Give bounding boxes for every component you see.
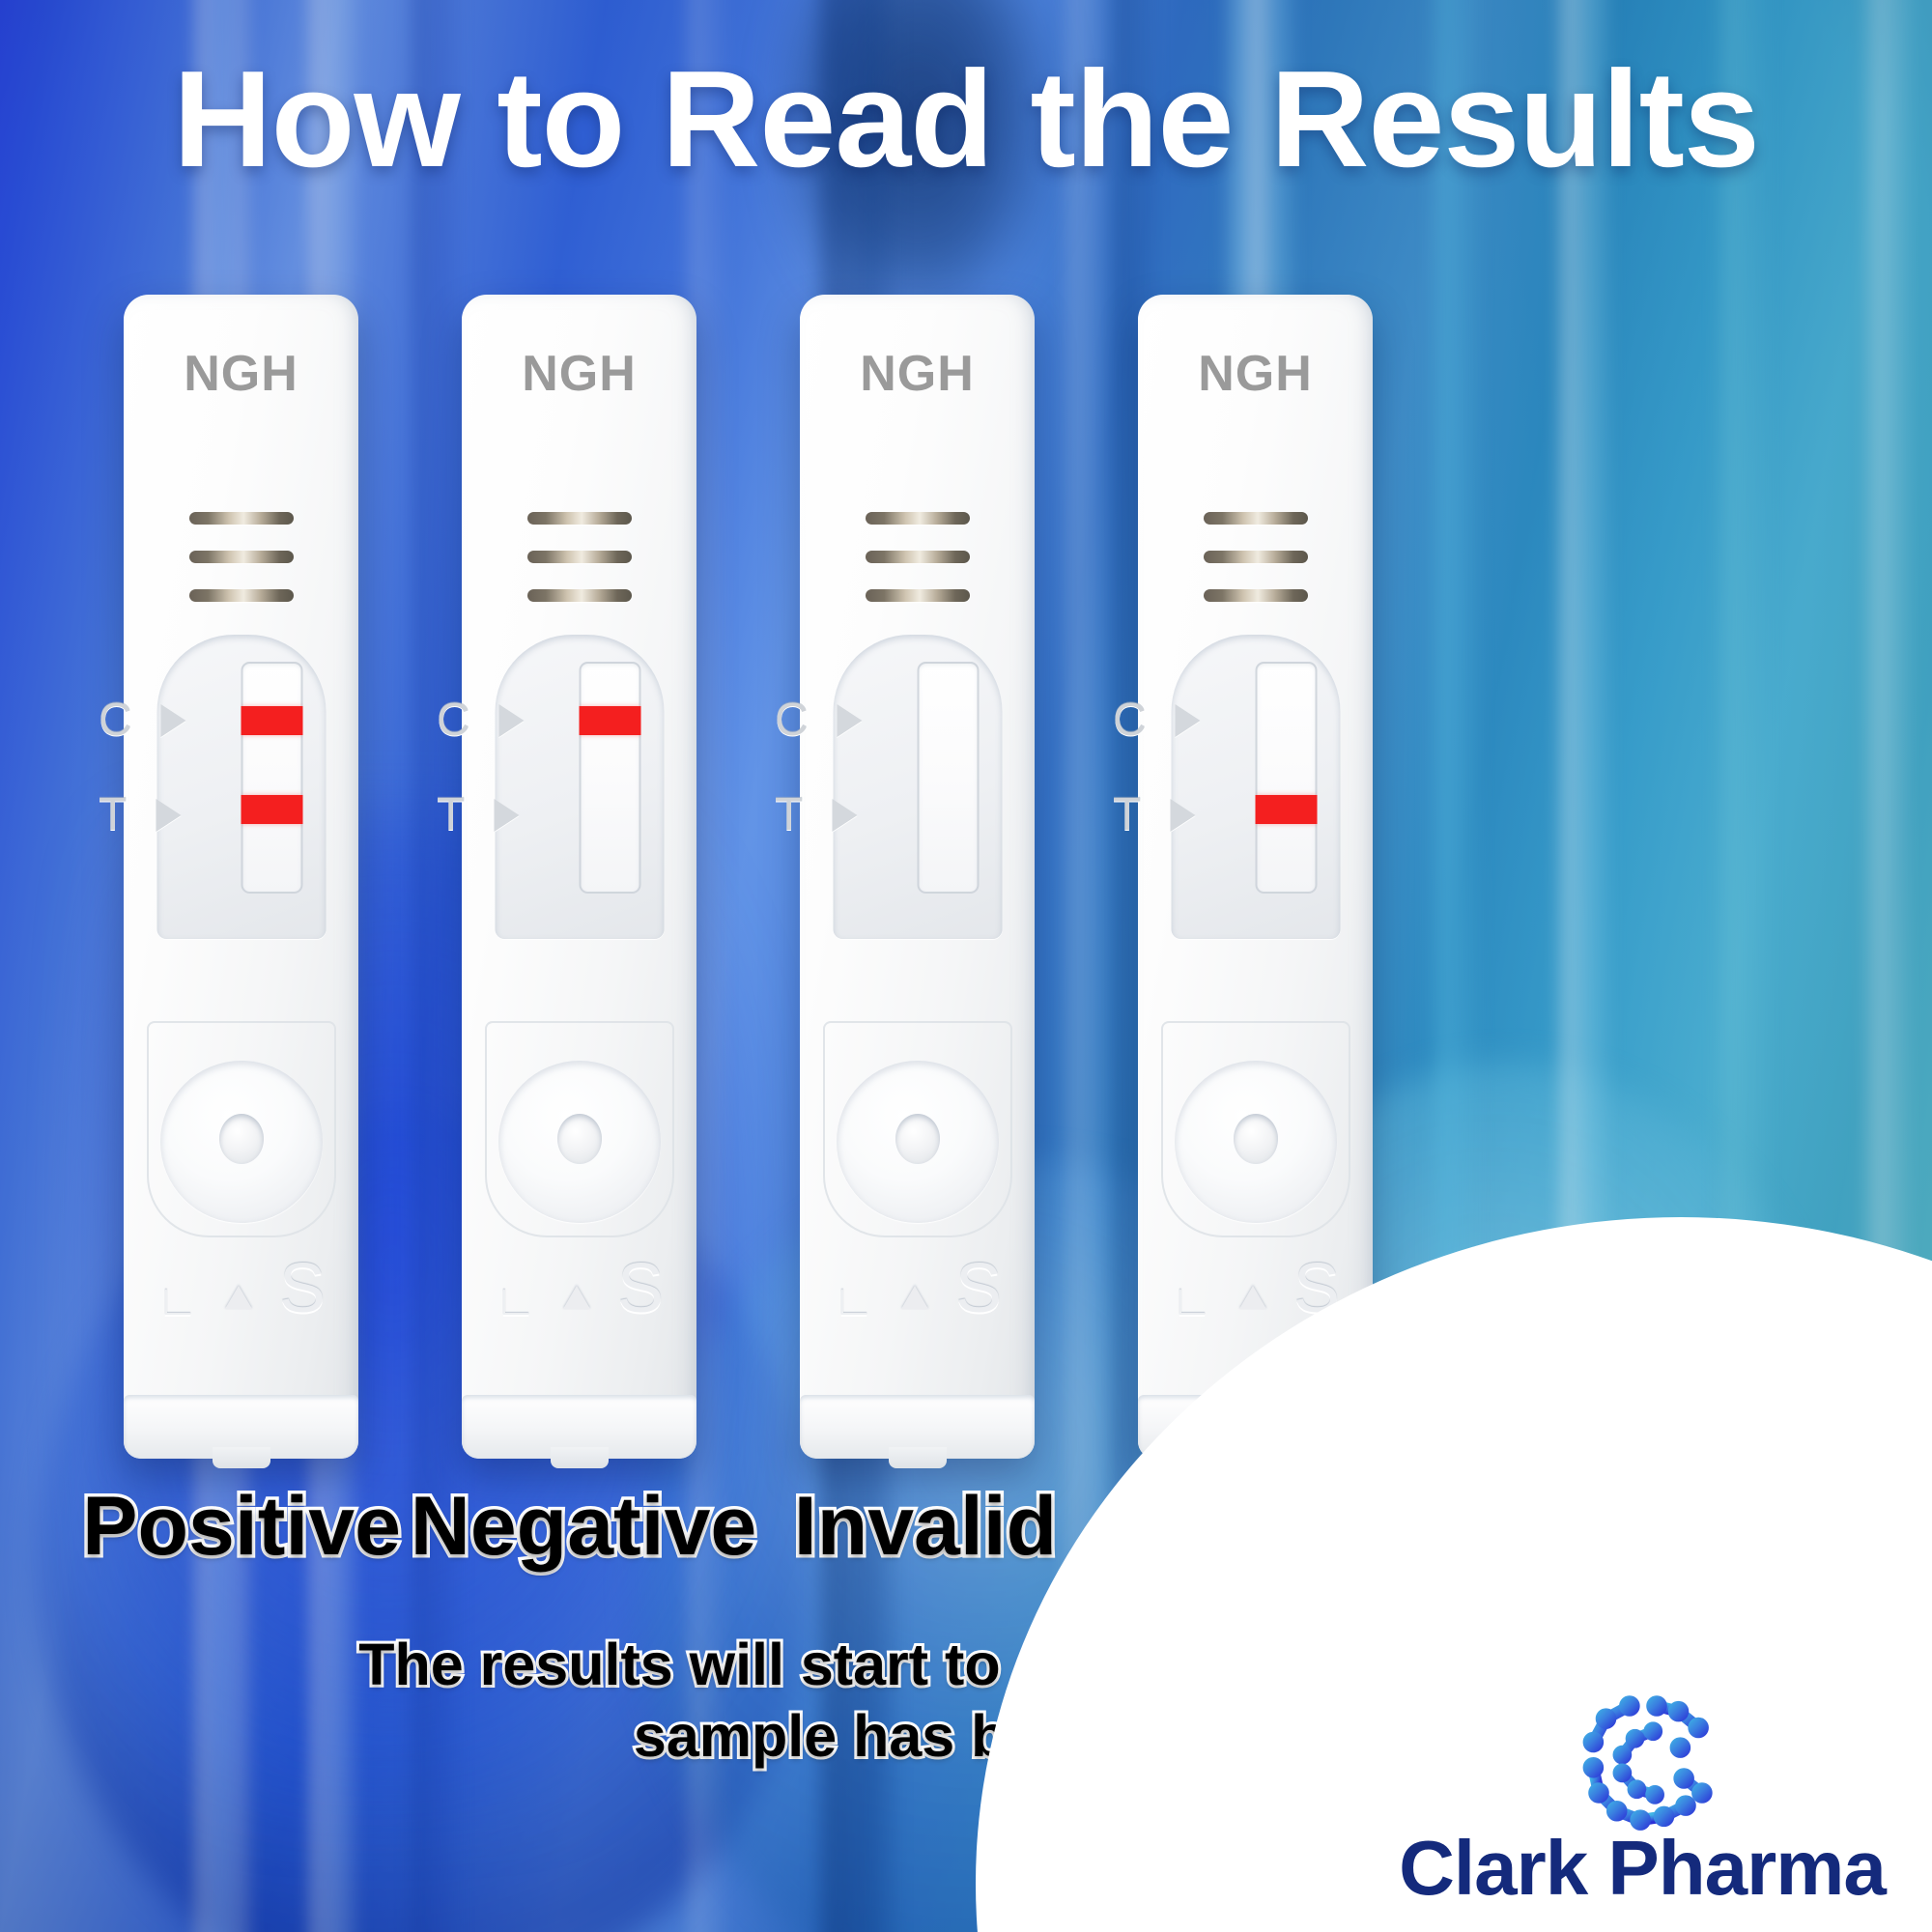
vent-slot: [527, 589, 632, 602]
test-marker: T: [1113, 783, 1258, 847]
up-arrow-icon: [225, 1286, 252, 1309]
sample-well-plate: ∟ S: [823, 1021, 1012, 1237]
cassette-notch: [551, 1447, 609, 1468]
result-window: [579, 662, 640, 894]
control-label: C: [437, 697, 470, 744]
triangle-icon: [1176, 704, 1201, 737]
test-label: T: [437, 792, 465, 838]
result-window-recess: C T: [495, 635, 664, 939]
triangle-icon: [156, 799, 181, 832]
control-marker: C: [775, 689, 920, 753]
sample-well-dish: [498, 1061, 661, 1223]
test-label: T: [1113, 792, 1141, 838]
marker-spacer: [1113, 753, 1258, 783]
control-marker: C: [437, 689, 582, 753]
sample-well-plate: ∟ S: [1161, 1021, 1350, 1237]
vent-slot: [1204, 589, 1308, 602]
ct-markers: C T: [775, 689, 920, 847]
ct-markers: C T: [99, 689, 243, 847]
control-label: C: [775, 697, 809, 744]
vent-slot: [189, 512, 294, 525]
control-marker: C: [99, 689, 243, 753]
device-label: NGH: [462, 345, 696, 403]
marker-spacer: [99, 753, 243, 783]
infographic-canvas: How to Read the Results NGH C T: [0, 0, 1932, 1932]
test-marker: T: [437, 783, 582, 847]
result-caption-invalid-none: Invalid: [752, 1479, 1099, 1575]
brand-name: Clark Pharma: [1372, 1824, 1913, 1913]
result-window-recess: C T: [833, 635, 1002, 939]
sample-well-plate: ∟ S: [147, 1021, 336, 1237]
sample-markings: ∟ S: [485, 1258, 674, 1321]
test-marker: T: [775, 783, 920, 847]
up-arrow-icon: [563, 1286, 590, 1309]
triangle-icon: [1170, 799, 1195, 832]
cassette-positive[interactable]: NGH C T: [124, 295, 358, 1459]
device-label: NGH: [124, 345, 358, 403]
triangle-icon: [494, 799, 519, 832]
up-arrow-icon: [901, 1286, 928, 1309]
control-line: [579, 706, 640, 735]
result-window-recess: C T: [1171, 635, 1340, 939]
control-line: [241, 706, 302, 735]
vent-slot: [866, 512, 970, 525]
triangle-icon: [832, 799, 857, 832]
test-label: T: [775, 792, 803, 838]
result-caption-positive: Positive: [68, 1479, 415, 1575]
result-window-recess: C T: [156, 635, 326, 939]
control-marker: C: [1113, 689, 1258, 753]
brand-logo[interactable]: Clark Pharma: [1372, 1694, 1913, 1917]
vent-slot: [1204, 512, 1308, 525]
vent-slot: [527, 512, 632, 525]
result-caption-negative: Negative: [410, 1479, 757, 1575]
ct-markers: C T: [437, 689, 582, 847]
sample-well-dish: [1175, 1061, 1337, 1223]
molecular-c-logo-icon: [1570, 1690, 1715, 1837]
vent-slot: [189, 589, 294, 602]
up-arrow-icon: [1239, 1286, 1266, 1309]
sample-label: S: [617, 1258, 664, 1321]
bracket-icon: ∟: [833, 1282, 874, 1321]
control-label: C: [1113, 697, 1147, 744]
vent-slot: [189, 551, 294, 563]
result-window: [241, 662, 302, 894]
triangle-icon: [499, 704, 525, 737]
vent-slot: [866, 589, 970, 602]
sample-label: S: [955, 1258, 1002, 1321]
test-line: [241, 795, 302, 824]
vent-slots: [527, 512, 632, 628]
marker-spacer: [437, 753, 582, 783]
sample-well-hole: [895, 1114, 940, 1164]
cassette-notch: [213, 1447, 270, 1468]
sample-well-dish: [837, 1061, 999, 1223]
vent-slot: [1204, 551, 1308, 563]
bracket-icon: ∟: [1171, 1282, 1212, 1321]
device-label: NGH: [800, 345, 1035, 403]
ct-markers: C T: [1113, 689, 1258, 847]
test-marker: T: [99, 783, 243, 847]
result-window: [1255, 662, 1317, 894]
sample-well-plate: ∟ S: [485, 1021, 674, 1237]
cassette-invalid-none[interactable]: NGH C T: [800, 295, 1035, 1459]
sample-label: S: [279, 1258, 326, 1321]
sample-well-hole: [219, 1114, 264, 1164]
cassette-notch: [889, 1447, 947, 1468]
triangle-icon: [838, 704, 863, 737]
vent-slots: [189, 512, 294, 628]
bracket-icon: ∟: [495, 1282, 536, 1321]
cassette-negative[interactable]: NGH C T: [462, 295, 696, 1459]
sample-well-dish: [160, 1061, 323, 1223]
sample-well-hole: [1234, 1114, 1278, 1164]
sample-markings: ∟ S: [147, 1258, 336, 1321]
bracket-icon: ∟: [156, 1282, 198, 1321]
vent-slot: [866, 551, 970, 563]
test-line: [1255, 795, 1317, 824]
vent-slots: [866, 512, 970, 628]
marker-spacer: [775, 753, 920, 783]
test-label: T: [99, 792, 127, 838]
control-label: C: [99, 697, 132, 744]
cassette-invalid-test-only[interactable]: NGH C T: [1138, 295, 1373, 1459]
triangle-icon: [161, 704, 186, 737]
device-label: NGH: [1138, 345, 1373, 403]
vent-slots: [1204, 512, 1308, 628]
result-window: [917, 662, 979, 894]
sample-markings: ∟ S: [823, 1258, 1012, 1321]
vent-slot: [527, 551, 632, 563]
sample-well-hole: [557, 1114, 602, 1164]
